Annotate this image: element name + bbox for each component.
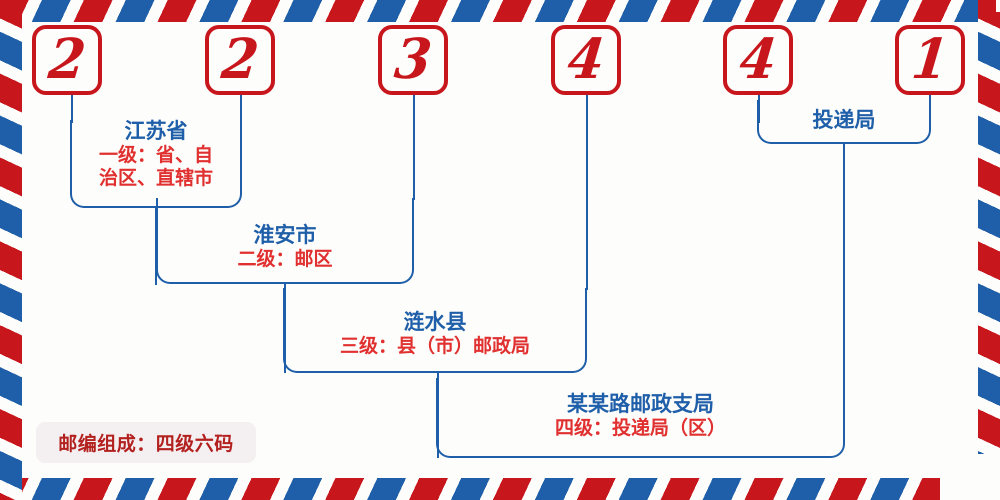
level-3-title: 涟水县: [283, 309, 587, 335]
airmail-border-bottom: [0, 478, 1000, 500]
legend-text: 邮编组成：四级六码: [58, 429, 234, 456]
airmail-border-top: [0, 0, 1000, 22]
airmail-border-left: [0, 0, 22, 500]
level-4-label: 某某路邮政支局 四级：投递局（区）: [436, 391, 845, 440]
stem-delivery-office: [843, 143, 845, 392]
airmail-border-right: [978, 0, 1000, 500]
level-4-title: 某某路邮政支局: [436, 391, 845, 417]
stem-digit-3: [413, 95, 415, 200]
digit-value-4: 4: [565, 32, 607, 87]
delivery-office-title: 投递局: [757, 107, 931, 133]
corner-mask-bottom-right: [940, 454, 1000, 500]
legend-badge: 邮编组成：四级六码: [36, 422, 256, 463]
level-3-subtitle: 三级：县（市）邮政局: [283, 335, 587, 358]
digit-box-1[interactable]: 2: [32, 25, 102, 95]
level-2-subtitle: 二级：邮区: [156, 248, 414, 271]
digit-value-5: 4: [737, 32, 779, 87]
level-1-title: 江苏省: [60, 118, 252, 144]
digit-box-3[interactable]: 3: [378, 25, 448, 95]
level-1-label: 江苏省 一级：省、自 治区、直辖市: [60, 118, 252, 190]
digit-value-3: 3: [392, 32, 434, 87]
corner-mask-top-right: [996, 0, 1000, 12]
digit-box-4[interactable]: 4: [551, 25, 621, 95]
level-4-subtitle: 四级：投递局（区）: [436, 417, 845, 440]
postcode-structure-diagram: 2 2 3 4 4 1 投递局 江苏省 一级：省、自 治区、直辖市 淮安市 二级…: [0, 0, 1000, 500]
level-1-subtitle: 一级：省、自 治区、直辖市: [60, 144, 252, 190]
digit-box-5[interactable]: 4: [723, 25, 793, 95]
digit-box-2[interactable]: 2: [205, 25, 275, 95]
delivery-office-label: 投递局: [757, 107, 931, 133]
digit-value-2: 2: [219, 32, 261, 87]
level-2-title: 淮安市: [156, 222, 414, 248]
level-2-label: 淮安市 二级：邮区: [156, 222, 414, 271]
stem-digit-4: [586, 95, 588, 290]
digit-box-6[interactable]: 1: [895, 25, 965, 95]
digit-value-1: 2: [46, 32, 88, 87]
digit-value-6: 1: [909, 32, 951, 87]
level-3-label: 涟水县 三级：县（市）邮政局: [283, 309, 587, 358]
